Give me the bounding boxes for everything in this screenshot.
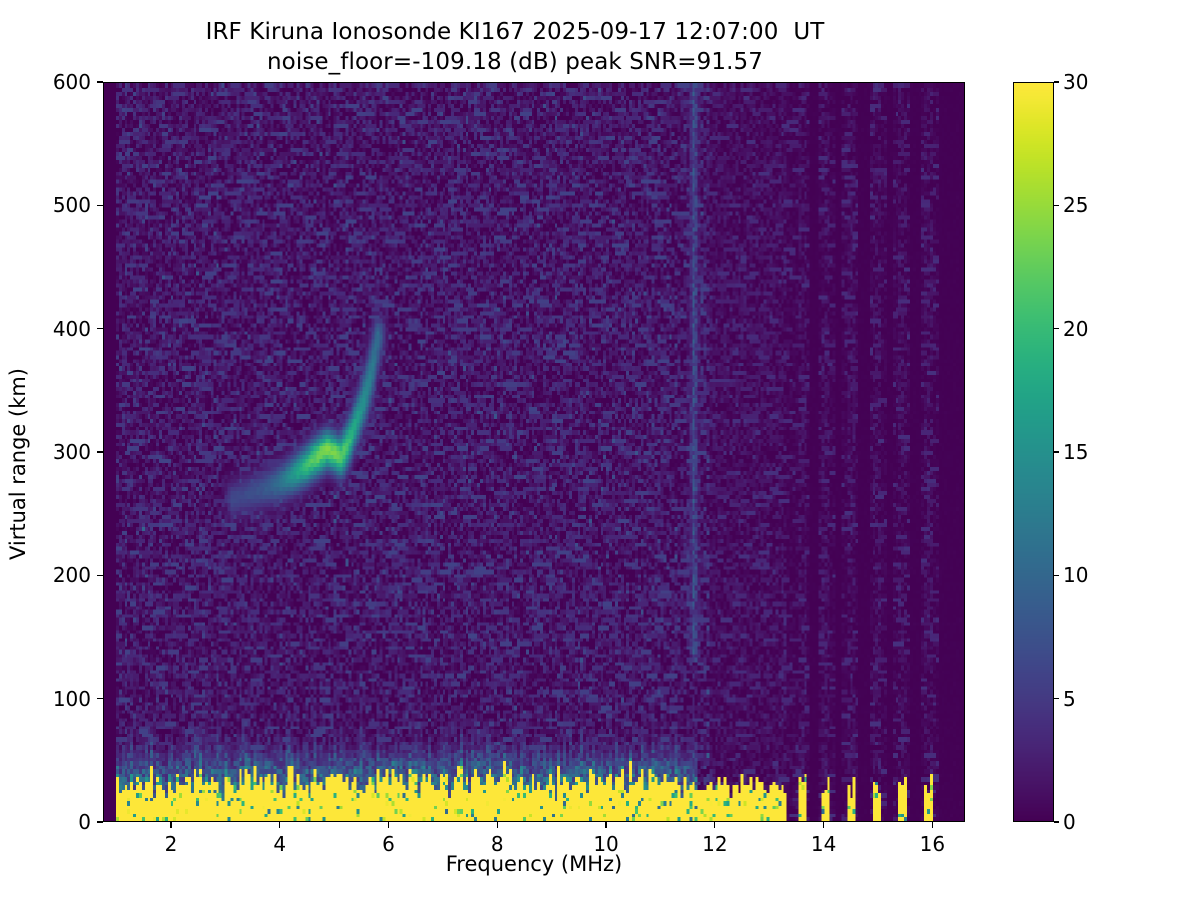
y-tick-label: 200 bbox=[53, 563, 91, 587]
colorbar-tick-mark bbox=[1054, 821, 1059, 822]
colorbar-tick-label: 20 bbox=[1063, 317, 1088, 341]
y-tick-label: 400 bbox=[53, 317, 91, 341]
x-tick-mark bbox=[388, 822, 389, 828]
y-axis-label: Virtual range (km) bbox=[6, 314, 30, 614]
y-tick-mark bbox=[97, 821, 103, 822]
x-tick-mark bbox=[170, 822, 171, 828]
y-tick-mark bbox=[97, 451, 103, 452]
y-tick-mark bbox=[97, 575, 103, 576]
figure-title: IRF Kiruna Ionosonde KI167 2025-09-17 12… bbox=[0, 18, 1030, 78]
y-tick-label: 300 bbox=[53, 440, 91, 464]
title-line-2: noise_floor=-109.18 (dB) peak SNR=91.57 bbox=[0, 48, 1030, 78]
x-tick-mark bbox=[605, 822, 606, 828]
colorbar-gradient bbox=[1014, 83, 1053, 821]
x-tick-mark bbox=[823, 822, 824, 828]
ionogram-axes bbox=[103, 82, 965, 822]
y-tick-label: 600 bbox=[53, 70, 91, 94]
colorbar-tick-label: 5 bbox=[1063, 687, 1076, 711]
x-axis-label: Frequency (MHz) bbox=[103, 852, 965, 876]
colorbar-tick-mark bbox=[1054, 451, 1059, 452]
x-tick-mark bbox=[932, 822, 933, 828]
y-tick-label: 500 bbox=[53, 193, 91, 217]
ionogram-figure: IRF Kiruna Ionosonde KI167 2025-09-17 12… bbox=[0, 0, 1200, 900]
ionogram-heatmap bbox=[104, 83, 964, 821]
y-tick-mark bbox=[97, 698, 103, 699]
colorbar-tick-label: 10 bbox=[1063, 563, 1088, 587]
colorbar-tick-mark bbox=[1054, 205, 1059, 206]
y-tick-mark bbox=[97, 81, 103, 82]
colorbar-tick-label: 25 bbox=[1063, 193, 1088, 217]
colorbar-tick-mark bbox=[1054, 575, 1059, 576]
colorbar-tick-mark bbox=[1054, 81, 1059, 82]
y-tick-mark bbox=[97, 328, 103, 329]
colorbar-tick-mark bbox=[1054, 698, 1059, 699]
colorbar-tick-label: 0 bbox=[1063, 810, 1076, 834]
colorbar bbox=[1013, 82, 1054, 822]
y-tick-mark bbox=[97, 205, 103, 206]
x-tick-mark bbox=[714, 822, 715, 828]
y-tick-label: 100 bbox=[53, 687, 91, 711]
colorbar-tick-mark bbox=[1054, 328, 1059, 329]
y-tick-label: 0 bbox=[78, 810, 91, 834]
colorbar-tick-label: 15 bbox=[1063, 440, 1088, 464]
x-tick-mark bbox=[279, 822, 280, 828]
x-tick-mark bbox=[497, 822, 498, 828]
colorbar-tick-label: 30 bbox=[1063, 70, 1088, 94]
title-line-1: IRF Kiruna Ionosonde KI167 2025-09-17 12… bbox=[0, 18, 1030, 48]
